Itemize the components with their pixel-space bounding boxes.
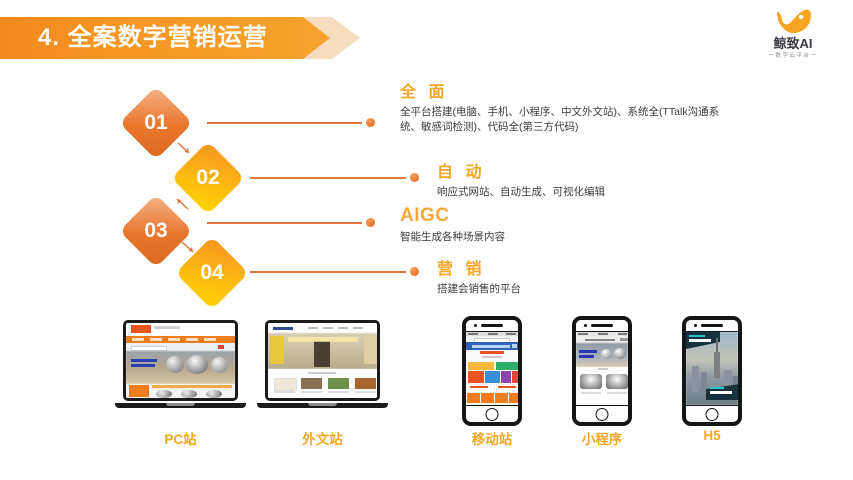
connector-line-3 [207,222,362,224]
phone-speaker [701,324,723,327]
laptop-notch [166,403,195,406]
phone-camera [584,324,587,327]
home-button[interactable] [706,408,719,421]
phone-speaker [481,324,503,327]
feature-body: 全平台搭建(电脑、手机、小程序、中文外文站)、系统全(TTalk沟通系统、敏感词… [400,105,740,135]
laptop-frame [123,320,238,401]
brand-logo: 鲸致AI 一数字云平台一 [747,6,839,68]
laptop-base [115,403,246,408]
feature-block-2: 自 动 响应式网站、自动生成、可视化编辑 [437,158,747,200]
feature-body: 智能生成各种场景内容 [400,230,710,245]
feature-body: 响应式网站、自动生成、可视化编辑 [437,185,747,200]
foreign-site-screenshot [268,323,377,398]
phone-earpiece [466,320,518,331]
bullet-dot-4 [410,267,419,276]
phone-earpiece [686,320,738,331]
feature-block-3: AIGC 智能生成各种场景内容 [400,205,710,245]
phone-camera [694,324,697,327]
feature-heading: 营 销 [437,255,747,279]
step-number: 01 [130,97,182,149]
device-label-pc: PC站 [123,428,238,448]
device-mockup-h5 [682,316,742,426]
device-label-miniprogram: 小程序 [562,428,642,448]
device-mockup-miniprogram [572,316,632,426]
feature-body: 搭建会销售的平台 [437,282,747,297]
phone-earpiece [576,320,628,331]
h5-screenshot [686,331,738,406]
device-label-foreign: 外文站 [265,428,380,448]
home-button[interactable] [486,408,499,421]
laptop-frame [265,320,380,401]
phone-frame [462,316,522,426]
device-mockup-pc [123,320,238,408]
step-badge-01: 01 [130,97,182,149]
phone-home-area [686,406,738,422]
device-mockup-mobile [462,316,522,426]
phone-speaker [591,324,613,327]
arrow-down-right-icon-1 [176,141,194,159]
device-label-h5: H5 [672,428,752,443]
connector-line-2 [250,177,406,179]
feature-block-1: 全 面 全平台搭建(电脑、手机、小程序、中文外文站)、系统全(TTalk沟通系统… [400,78,740,135]
bullet-dot-2 [410,173,419,182]
feature-heading: AIGC [400,205,710,227]
bullet-dot-3 [366,218,375,227]
arrow-up-left-icon-2 [174,196,192,214]
arrow-down-right-icon-3 [180,240,198,258]
page-title: 4. 全案数字营销运营 [38,17,268,59]
connector-line-1 [207,122,362,124]
feature-block-4: 营 销 搭建会销售的平台 [437,255,747,297]
slide-title-banner: 4. 全案数字营销运营 [0,17,375,59]
phone-frame [682,316,742,426]
phone-camera [474,324,477,327]
connector-line-4 [250,271,406,273]
device-mockup-foreign [265,320,380,408]
home-button[interactable] [596,408,609,421]
feature-heading: 全 面 [400,78,740,102]
logo-name: 鲸致AI [747,37,839,51]
phone-home-area [466,406,518,422]
mobile-site-screenshot [466,331,518,406]
laptop-base [257,403,388,408]
phone-frame [572,316,632,426]
pc-site-screenshot [126,323,235,398]
miniprogram-screenshot [576,331,628,406]
logo-subtitle: 一数字云平台一 [747,53,839,60]
device-label-mobile: 移动站 [452,428,532,448]
feature-heading: 自 动 [437,158,747,182]
whale-swoosh-icon [771,6,815,36]
laptop-notch [308,403,337,406]
slide-canvas: 4. 全案数字营销运营 鲸致AI 一数字云平台一 01 02 03 04 [0,0,853,480]
phone-home-area [576,406,628,422]
bullet-dot-1 [366,118,375,127]
